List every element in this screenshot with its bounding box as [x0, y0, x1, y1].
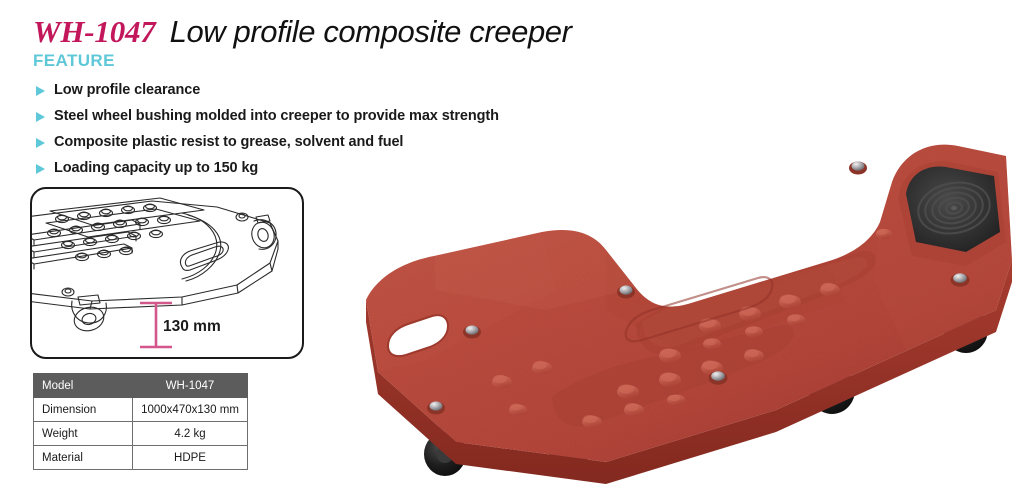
table-cell-value: HDPE [133, 446, 248, 470]
table-cell-label: Dimension [34, 398, 133, 422]
bolt-head [951, 273, 970, 287]
diagram-box: 130 mm [30, 187, 304, 359]
product-header: WH-1047 Low profile composite creeper [33, 14, 572, 50]
dimension-annotation: 130 mm [140, 303, 221, 347]
triangle-right-icon [36, 86, 45, 96]
creeper-line-drawing: 130 mm [32, 189, 302, 357]
model-code: WH-1047 [33, 14, 156, 50]
feature-heading: FEATURE [33, 51, 115, 71]
table-cell-value: WH-1047 [133, 374, 248, 398]
table-cell-value: 1000x470x130 mm [133, 398, 248, 422]
table-row: Dimension 1000x470x130 mm [34, 398, 248, 422]
bolt-head [427, 401, 445, 414]
creeper-product-image [306, 110, 1024, 489]
triangle-right-icon [36, 164, 45, 174]
bolt-head [463, 325, 481, 338]
spec-table: Model WH-1047 Dimension 1000x470x130 mm … [33, 373, 248, 470]
bolt-head [709, 371, 728, 385]
table-row: Material HDPE [34, 446, 248, 470]
page-title: Low profile composite creeper [170, 14, 572, 50]
table-cell-label: Material [34, 446, 133, 470]
table-cell-label: Model [34, 374, 133, 398]
triangle-right-icon [36, 138, 45, 148]
table-row: Weight 4.2 kg [34, 422, 248, 446]
triangle-right-icon [36, 112, 45, 122]
bolt-head [849, 161, 867, 174]
table-cell-label: Weight [34, 422, 133, 446]
bolt-head [617, 285, 635, 298]
table-cell-value: 4.2 kg [133, 422, 248, 446]
feature-text: Loading capacity up to 150 kg [54, 161, 258, 176]
feature-text: Low profile clearance [54, 83, 200, 98]
dimension-label: 130 mm [163, 318, 221, 335]
table-row: Model WH-1047 [34, 374, 248, 398]
list-item: Low profile clearance [36, 80, 656, 101]
headrest-pad [906, 166, 1000, 252]
product-photo [306, 110, 1024, 489]
